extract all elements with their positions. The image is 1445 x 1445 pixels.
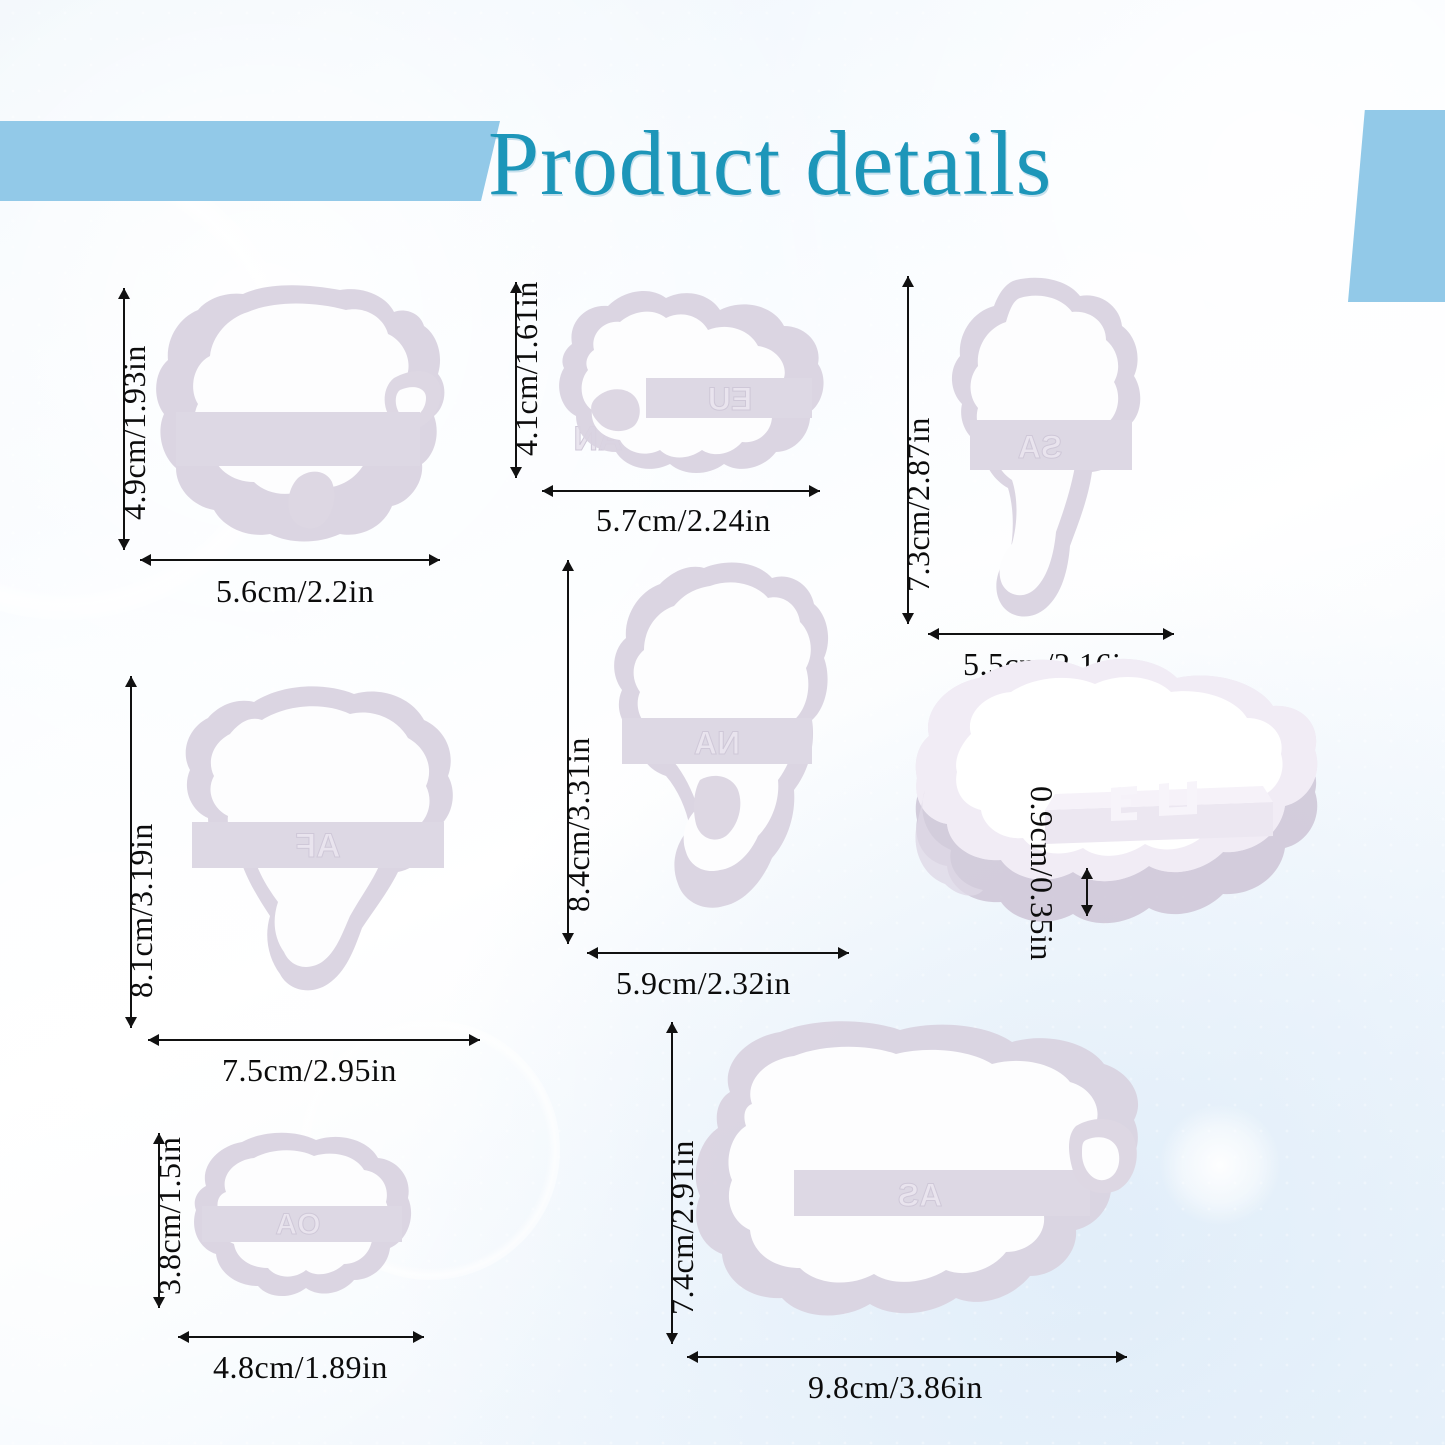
page-title: Product details bbox=[488, 108, 1368, 218]
thickness-perspective-cutter bbox=[905, 690, 1325, 990]
header-banner-left bbox=[0, 121, 500, 201]
thickness-shape-svg bbox=[905, 690, 1325, 990]
south-america-height-label: 7.3cm/2.87in bbox=[900, 417, 937, 592]
antarctica-shape-svg: AN bbox=[148, 282, 448, 547]
oceania-width-label: 4.8cm/1.89in bbox=[213, 1349, 388, 1386]
antarctica-cutter: AN bbox=[148, 282, 448, 547]
asia-width-label: 9.8cm/3.86in bbox=[808, 1369, 983, 1406]
europe-shape-svg: EU bbox=[538, 282, 828, 482]
south-america-emboss-text: SA bbox=[1018, 429, 1062, 465]
north-america-cutter: NA bbox=[592, 558, 842, 938]
europe-cutter: EU bbox=[538, 282, 828, 482]
product-details-page: Product details AN 4.9cm/1.93in bbox=[0, 0, 1445, 1445]
europe-height-label: 4.1cm/1.61in bbox=[508, 281, 545, 456]
south-america-shape-svg: SA bbox=[920, 274, 1160, 624]
oceania-emboss-text: OA bbox=[276, 1208, 321, 1241]
north-america-emboss-text: NA bbox=[694, 725, 740, 761]
north-america-height-label: 8.4cm/3.31in bbox=[560, 737, 597, 912]
south-america-cutter: SA bbox=[920, 274, 1160, 624]
asia-height-label: 7.4cm/2.91in bbox=[664, 1140, 701, 1315]
north-america-shape-svg: NA bbox=[592, 558, 842, 938]
north-america-width-label: 5.9cm/2.32in bbox=[616, 965, 791, 1002]
asia-shape-svg: AS bbox=[690, 1018, 1150, 1348]
africa-height-label: 8.1cm/3.19in bbox=[123, 823, 160, 998]
thickness-depth-label: 0.9cm/0.35in bbox=[1023, 786, 1060, 961]
antarctica-width-label: 5.6cm/2.2in bbox=[216, 573, 374, 610]
africa-emboss-text: AF bbox=[295, 827, 340, 865]
oceania-cutter: OA bbox=[176, 1130, 421, 1305]
europe-width-label: 5.7cm/2.24in bbox=[596, 502, 771, 539]
asia-cutter: AS bbox=[690, 1018, 1150, 1348]
africa-width-label: 7.5cm/2.95in bbox=[222, 1052, 397, 1089]
antarctica-height-label: 4.9cm/1.93in bbox=[116, 345, 153, 520]
africa-cutter: AF bbox=[148, 672, 478, 1002]
oceania-height-label: 3.8cm/1.5in bbox=[151, 1137, 188, 1295]
asia-emboss-text: AS bbox=[898, 1177, 942, 1213]
europe-emboss-text: EU bbox=[708, 381, 752, 417]
africa-shape-svg: AF bbox=[148, 672, 478, 1002]
oceania-shape-svg: OA bbox=[176, 1130, 421, 1305]
page-header: Product details bbox=[0, 0, 1445, 240]
